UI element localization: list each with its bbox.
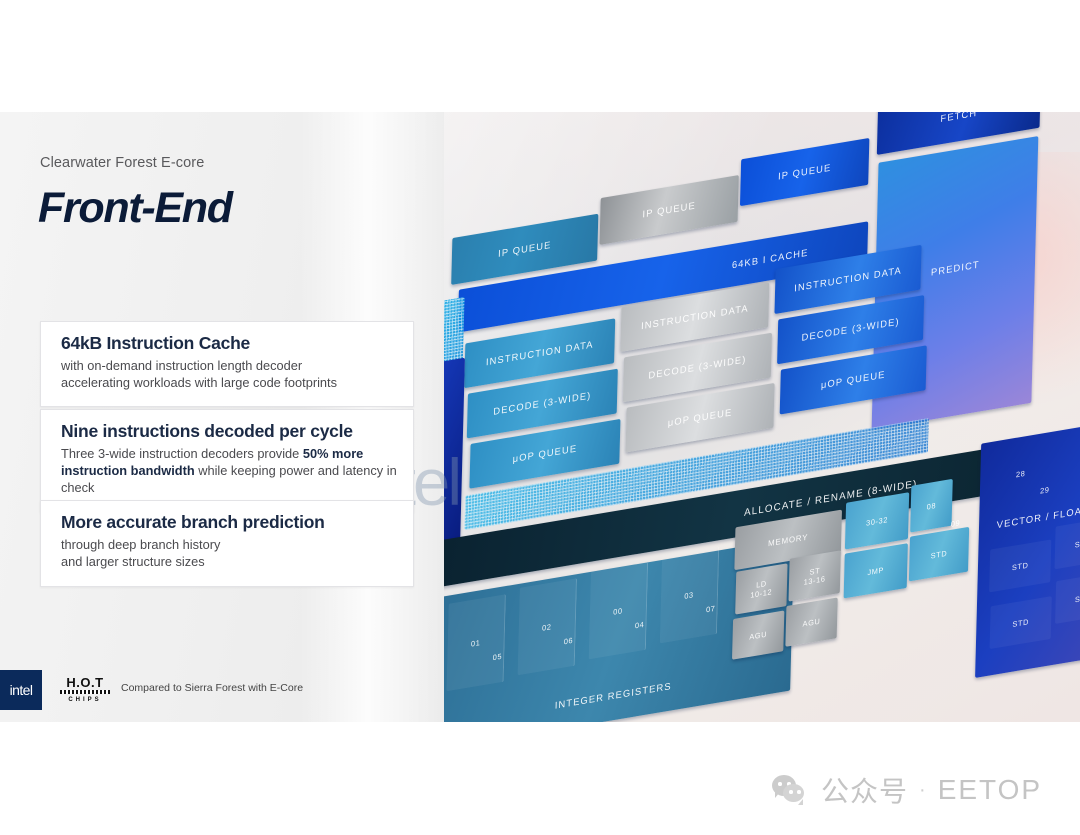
feature-card-instruction-cache: 64kB Instruction Cache with on-demand in… <box>40 321 414 407</box>
memory-port-ld: LD 10-12 <box>735 563 787 614</box>
card-title: 64kB Instruction Cache <box>61 333 397 355</box>
footnote-text: Compared to Sierra Forest with E-Core <box>121 682 303 694</box>
memory-port-range: 13-16 <box>804 574 826 587</box>
intel-logo: intel <box>0 670 42 710</box>
card-body-line: accelerating workloads with large code f… <box>61 375 337 390</box>
exec-unit-jmp: JMP <box>844 543 908 598</box>
block-ip-queue: IP QUEUE <box>600 175 739 245</box>
hotchips-logo-top: H.O.T <box>66 676 103 689</box>
card-body-prefix: Three 3-wide instruction decoders provid… <box>61 446 303 461</box>
watermark-chinese-label: 公众号 <box>821 770 908 810</box>
vector-port-cell: 29 <box>1023 468 1067 512</box>
exec-unit-std: STD <box>909 527 969 582</box>
vector-port-cell: 30-32 <box>845 492 909 549</box>
feature-card-branch-prediction: More accurate branch prediction through … <box>40 500 414 587</box>
card-body-line: with on-demand instruction length decode… <box>61 358 302 373</box>
eyebrow-label: Clearwater Forest E-core <box>40 155 204 171</box>
memory-port-range: 10-12 <box>750 587 772 600</box>
port-cell: 06 <box>545 616 591 664</box>
hotchips-logo: H.O.T CHIPS <box>59 673 111 705</box>
microarchitecture-diagram: IP QUEUE IP QUEUE IP QUEUE FETCH 64KB I … <box>444 112 1080 722</box>
eetop-watermark: 公众号 · EETOP <box>770 770 1042 810</box>
page-title: Front-End <box>38 184 232 233</box>
feature-card-decode-width: Nine instructions decoded per cycle Thre… <box>40 409 414 513</box>
card-body: with on-demand instruction length decode… <box>61 357 397 391</box>
port-cell: 05 <box>474 632 520 680</box>
card-body: through deep branch history and larger s… <box>61 536 397 570</box>
hotchips-logo-bottom: CHIPS <box>68 697 101 703</box>
slide-footer: intel H.O.T CHIPS Compared to Sierra For… <box>0 670 444 722</box>
wechat-icon <box>770 775 810 805</box>
diagram-stage: IP QUEUE IP QUEUE IP QUEUE FETCH 64KB I … <box>444 112 1080 722</box>
port-cell: 07 <box>688 584 734 632</box>
card-title: Nine instructions decoded per cycle <box>61 421 397 443</box>
exec-unit-agu: AGU <box>785 597 837 646</box>
watermark-separator: · <box>919 779 927 802</box>
hotchips-logo-bar <box>60 690 110 694</box>
card-body-line: and larger structure sizes <box>61 554 205 569</box>
card-title: More accurate branch prediction <box>61 512 397 534</box>
block-ip-queue: IP QUEUE <box>740 138 869 206</box>
card-body-line: through deep branch history <box>61 537 220 552</box>
vector-port-cell: 21 <box>1075 435 1080 479</box>
memory-port-st: ST 13-16 <box>789 550 841 601</box>
port-cell: 04 <box>616 600 662 648</box>
card-body: Three 3-wide instruction decoders provid… <box>61 445 397 496</box>
watermark-brand: EETOP <box>938 774 1042 806</box>
slide-canvas: intel Clearwater Forest E-core Front-End… <box>0 112 1080 722</box>
